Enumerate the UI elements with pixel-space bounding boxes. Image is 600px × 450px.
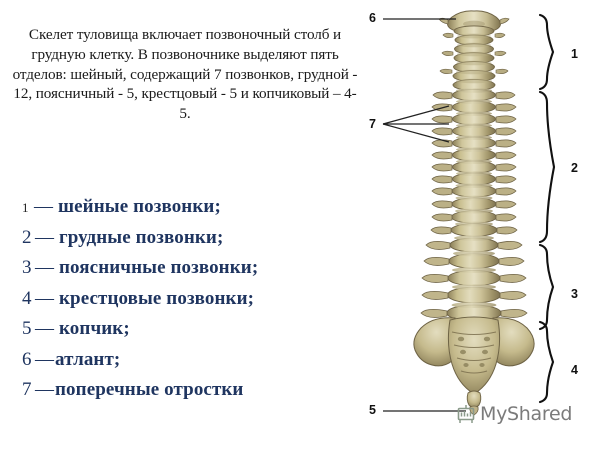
callout-number-6: 6 xyxy=(369,11,376,25)
cervical-vertebra-stack xyxy=(440,26,508,91)
callout-number-7: 7 xyxy=(369,117,376,131)
watermark-text: MyShared xyxy=(480,403,572,425)
callout-number-5: 5 xyxy=(369,403,376,417)
slide-canvas: Скелет туловища включает позвоночный сто… xyxy=(0,0,600,450)
sacrum-and-pelvis-group xyxy=(414,317,534,415)
bracket-label-4: 4 xyxy=(571,363,578,377)
bracket-label-3: 3 xyxy=(571,287,578,301)
lumbar-vertebrae-group xyxy=(421,235,527,321)
bracket-label-2: 2 xyxy=(571,161,578,175)
vertebral-column-illustration xyxy=(0,0,600,450)
myshared-logo-icon xyxy=(455,403,477,425)
cervical-vertebrae-group xyxy=(439,11,509,91)
bracket-label-1: 1 xyxy=(571,47,578,61)
thoracic-vertebrae-group xyxy=(431,88,517,236)
watermark: MyShared xyxy=(455,403,572,425)
region-braces xyxy=(540,15,554,402)
